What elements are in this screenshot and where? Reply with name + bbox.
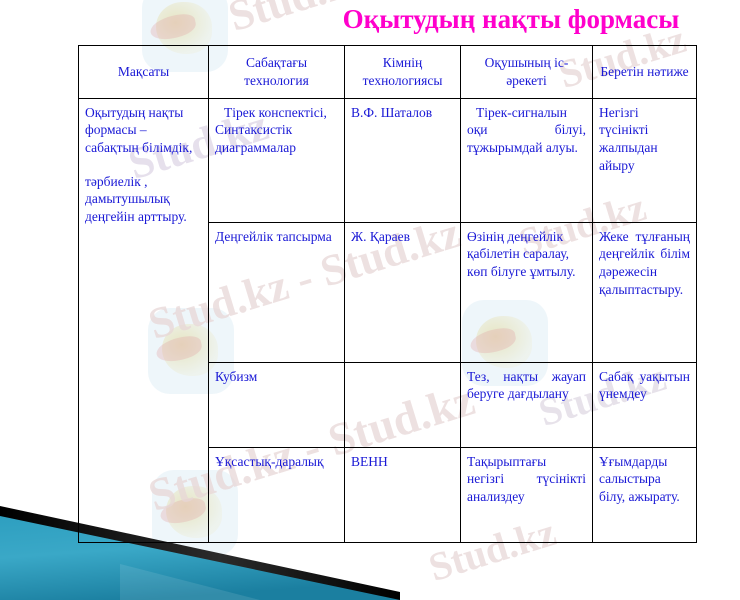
table-header-row: Мақсаты Сабақтағы технология Кімнің техн… xyxy=(79,45,697,98)
table-row: Оқытудың нақты формасы – сабақтың білімд… xyxy=(79,98,697,222)
cell-result: Негізгі түсінікті жалпыдан айыру xyxy=(593,98,697,222)
column-header-goal: Мақсаты xyxy=(79,45,209,98)
cell-result: Ұғымдарды салыстыра білу, ажырату. xyxy=(593,447,697,542)
cell-technology: Кубизм xyxy=(209,362,345,447)
slide-body: Оқытудың нақты формасы Мақсаты Сабақтағы… xyxy=(0,0,740,543)
cell-author: ВЕНН xyxy=(345,447,461,542)
column-header-author: Кімнің технологиясы xyxy=(345,45,461,98)
slide-title: Оқытудың нақты формасы xyxy=(296,0,726,36)
cell-activity: Тез, нақты жауап беруге дағдылану xyxy=(461,362,593,447)
cell-author: В.Ф. Шаталов xyxy=(345,98,461,222)
cell-technology: Ұқсастық-даралық xyxy=(209,447,345,542)
cell-result: Жеке тұлғаның деңгейлік білім дәрежесін … xyxy=(593,222,697,362)
cell-technology: Тірек конспектісі, Синтаксистік диаграмм… xyxy=(209,98,345,222)
column-header-technology: Сабақтағы технология xyxy=(209,45,345,98)
column-header-activity: Оқушының іс-әрекеті xyxy=(461,45,593,98)
goal-text-part2: тәрбиелік , дамытушылық деңгейін арттыру… xyxy=(85,173,202,226)
cell-author: Ж. Қараев xyxy=(345,222,461,362)
forms-of-teaching-table: Мақсаты Сабақтағы технология Кімнің техн… xyxy=(78,45,697,543)
goal-text-part1: Оқытудың нақты формасы – сабақтың білімд… xyxy=(85,105,192,155)
cell-activity: Тірек-сигналын оқи білуі, тұжырымдай алу… xyxy=(461,98,593,222)
cell-activity: Тақырыптағы негізгі түсінікті анализдеу xyxy=(461,447,593,542)
cell-activity: Өзінің деңгейлік қабілетін саралау, көп … xyxy=(461,222,593,362)
cell-technology: Деңгейлік тапсырма xyxy=(209,222,345,362)
cell-author xyxy=(345,362,461,447)
column-header-result: Беретін нәтиже xyxy=(593,45,697,98)
cell-result: Сабақ уақытын үнемдеу xyxy=(593,362,697,447)
cell-goal: Оқытудың нақты формасы – сабақтың білімд… xyxy=(79,98,209,542)
